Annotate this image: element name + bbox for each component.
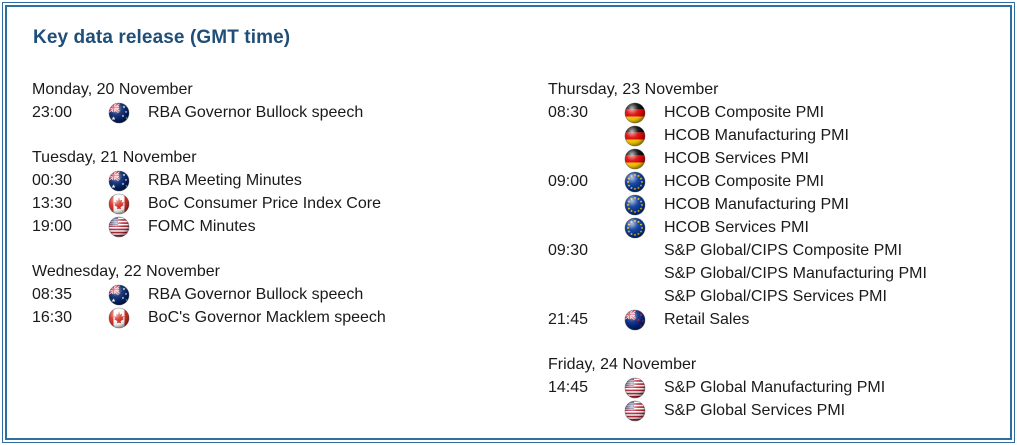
event-label: BoC Consumer Price Index Core <box>148 192 381 215</box>
day-header: Wednesday, 22 November <box>32 260 512 283</box>
event-row: 14:45S&P Global Manufacturing PMI <box>548 376 998 399</box>
event-time: 08:35 <box>32 283 108 306</box>
australia-flag-icon <box>108 170 148 192</box>
event-time: 00:30 <box>32 169 108 192</box>
day-group: Wednesday, 22 November08:35RBA Governor … <box>32 260 512 329</box>
event-row: 16:30BoC's Governor Macklem speech <box>32 306 512 329</box>
event-label: RBA Governor Bullock speech <box>148 283 363 306</box>
event-label: S&P Global/CIPS Manufacturing PMI <box>664 262 927 285</box>
event-row: HCOB Services PMI <box>548 216 998 239</box>
page-title: Key data release (GMT time) <box>33 27 290 49</box>
event-label: Retail Sales <box>664 308 749 331</box>
eu-flag-icon <box>624 217 664 239</box>
event-time: 19:00 <box>32 215 108 238</box>
australia-flag-icon <box>108 102 148 124</box>
day-header: Monday, 20 November <box>32 78 512 101</box>
germany-flag-icon <box>624 125 664 147</box>
event-row: 09:00HCOB Composite PMI <box>548 170 998 193</box>
day-group: Friday, 24 November14:45S&P Global Manuf… <box>548 353 998 422</box>
event-row: HCOB Manufacturing PMI <box>548 124 998 147</box>
event-label: S&P Global Manufacturing PMI <box>664 376 885 399</box>
event-row: HCOB Manufacturing PMI <box>548 193 998 216</box>
event-label: HCOB Composite PMI <box>664 101 824 124</box>
usa-flag-icon <box>624 377 664 399</box>
newzealand-flag-icon <box>624 309 664 331</box>
canada-flag-icon <box>108 193 148 215</box>
event-time: 08:30 <box>548 101 624 124</box>
event-row: 08:35RBA Governor Bullock speech <box>32 283 512 306</box>
event-label: FOMC Minutes <box>148 215 256 238</box>
event-time: 21:45 <box>548 308 624 331</box>
event-row: S&P Global/CIPS Manufacturing PMI <box>548 262 998 285</box>
day-group: Tuesday, 21 November00:30RBA Meeting Min… <box>32 146 512 238</box>
germany-flag-icon <box>624 148 664 170</box>
usa-flag-icon <box>108 216 148 238</box>
day-header: Tuesday, 21 November <box>32 146 512 169</box>
event-label: HCOB Manufacturing PMI <box>664 124 849 147</box>
event-label: S&P Global Services PMI <box>664 399 845 422</box>
day-spacer <box>548 331 998 353</box>
event-row: 21:45Retail Sales <box>548 308 998 331</box>
event-time: 09:00 <box>548 170 624 193</box>
event-label: RBA Governor Bullock speech <box>148 101 363 124</box>
day-group: Monday, 20 November23:00RBA Governor Bul… <box>32 78 512 124</box>
event-time: 23:00 <box>32 101 108 124</box>
day-header: Thursday, 23 November <box>548 78 998 101</box>
event-row: S&P Global/CIPS Services PMI <box>548 285 998 308</box>
event-time: 09:30 <box>548 239 624 262</box>
event-label: BoC's Governor Macklem speech <box>148 306 386 329</box>
eu-flag-icon <box>624 194 664 216</box>
event-row: 19:00FOMC Minutes <box>32 215 512 238</box>
day-header: Friday, 24 November <box>548 353 998 376</box>
event-row: 13:30BoC Consumer Price Index Core <box>32 192 512 215</box>
germany-flag-icon <box>624 102 664 124</box>
event-label: HCOB Services PMI <box>664 216 809 239</box>
event-row: S&P Global Services PMI <box>548 399 998 422</box>
event-time: 14:45 <box>548 376 624 399</box>
left-column: Monday, 20 November23:00RBA Governor Bul… <box>32 78 512 329</box>
key-data-release-panel: Key data release (GMT time) Monday, 20 N… <box>0 0 1017 445</box>
right-column: Thursday, 23 November08:30HCOB Composite… <box>548 78 998 422</box>
event-row: 09:30S&P Global/CIPS Composite PMI <box>548 239 998 262</box>
event-row: 08:30HCOB Composite PMI <box>548 101 998 124</box>
usa-flag-icon <box>624 400 664 422</box>
eu-flag-icon <box>624 171 664 193</box>
event-label: S&P Global/CIPS Services PMI <box>664 285 887 308</box>
event-row: HCOB Services PMI <box>548 147 998 170</box>
day-spacer <box>32 238 512 260</box>
event-time: 13:30 <box>32 192 108 215</box>
event-row: 23:00RBA Governor Bullock speech <box>32 101 512 124</box>
event-label: RBA Meeting Minutes <box>148 169 302 192</box>
event-row: 00:30RBA Meeting Minutes <box>32 169 512 192</box>
day-spacer <box>32 124 512 146</box>
event-label: HCOB Manufacturing PMI <box>664 193 849 216</box>
canada-flag-icon <box>108 307 148 329</box>
day-group: Thursday, 23 November08:30HCOB Composite… <box>548 78 998 331</box>
event-label: S&P Global/CIPS Composite PMI <box>664 239 902 262</box>
event-time: 16:30 <box>32 306 108 329</box>
event-label: HCOB Services PMI <box>664 147 809 170</box>
australia-flag-icon <box>108 284 148 306</box>
event-label: HCOB Composite PMI <box>664 170 824 193</box>
